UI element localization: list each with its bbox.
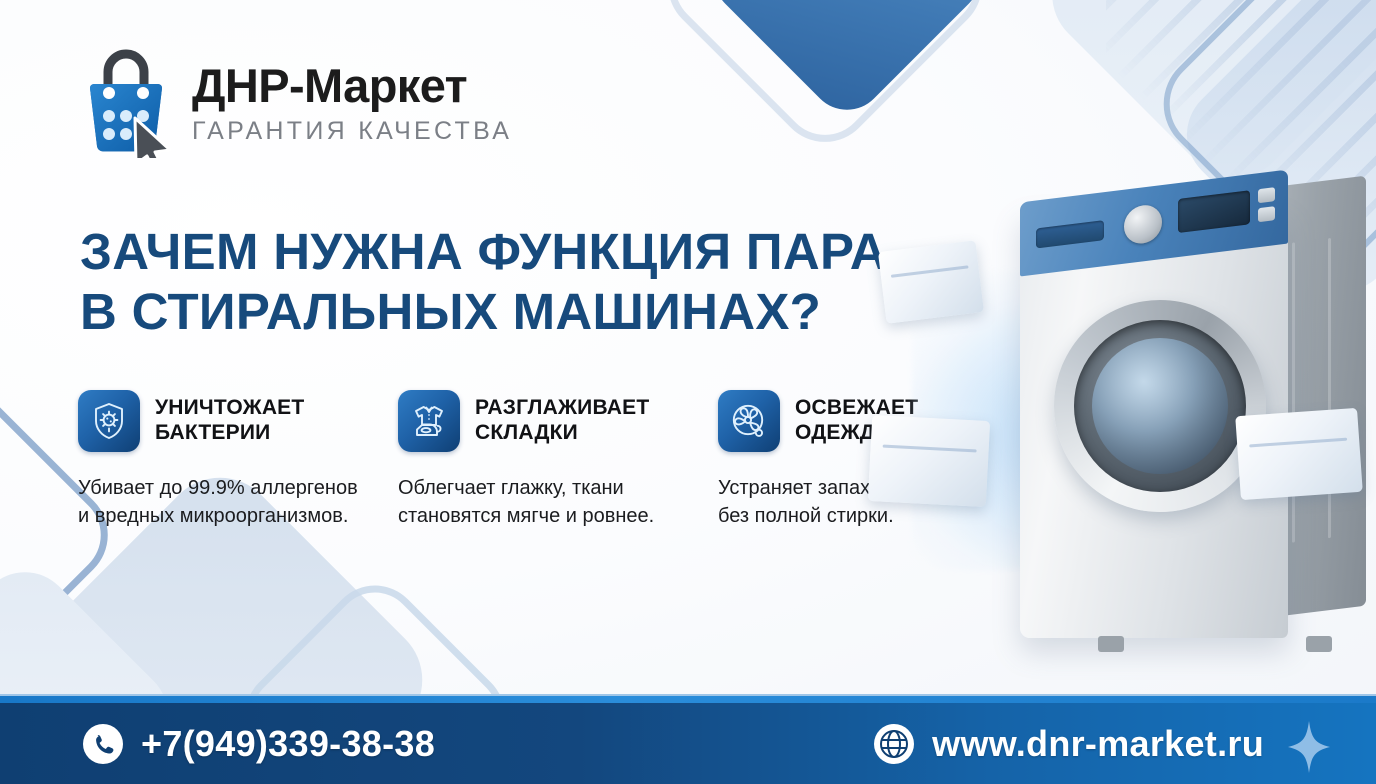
feature-title-line-1: РАЗГЛАЖИВАЕТ bbox=[475, 396, 649, 419]
website-url: www.dnr-market.ru bbox=[932, 723, 1264, 765]
door-glass bbox=[1092, 338, 1228, 474]
machine-foot bbox=[1306, 636, 1332, 652]
detergent-drawer bbox=[1036, 220, 1104, 248]
website-link[interactable]: www.dnr-market.ru bbox=[873, 723, 1264, 765]
machine-door bbox=[1054, 300, 1266, 512]
shopping-bag-cursor-icon bbox=[78, 46, 174, 158]
feature-description: Убивает до 99.9% аллергенов и вредных ми… bbox=[78, 474, 370, 531]
folded-shirt bbox=[878, 240, 984, 323]
fan-icon bbox=[718, 390, 780, 452]
headline-line-2: В СТИРАЛЬНЫХ МАШИНАХ? bbox=[80, 282, 887, 342]
washing-machine-image bbox=[962, 150, 1376, 690]
machine-buttons bbox=[1258, 187, 1275, 222]
feature-title: РАЗГЛАЖИВАЕТ СКЛАДКИ bbox=[475, 396, 649, 446]
sparkle-icon bbox=[1288, 721, 1330, 773]
brand-tagline: ГАРАНТИЯ КАЧЕСТВА bbox=[192, 117, 512, 146]
deco-diamond-blue-top bbox=[699, 0, 996, 125]
feature-item-wrinkles: РАЗГЛАЖИВАЕТ СКЛАДКИ Облегчает глажку, т… bbox=[398, 390, 718, 531]
feature-item-bacteria: УНИЧТОЖАЕТ БАКТЕРИИ Убивает до 99.9% алл… bbox=[78, 390, 398, 531]
page-title: ЗАЧЕМ НУЖНА ФУНКЦИЯ ПАРА В СТИРАЛЬНЫХ МА… bbox=[80, 222, 887, 341]
globe-icon bbox=[873, 723, 915, 765]
feature-title-line-2: БАКТЕРИИ bbox=[155, 421, 270, 444]
door-inner bbox=[1074, 320, 1246, 492]
feature-header: УНИЧТОЖАЕТ БАКТЕРИИ bbox=[78, 390, 398, 452]
phone-number: +7(949)339-38-38 bbox=[141, 723, 435, 765]
feature-title-line-2: СКЛАДКИ bbox=[475, 421, 578, 444]
feature-title: УНИЧТОЖАЕТ БАКТЕРИИ bbox=[155, 396, 304, 446]
brand-logo: ДНР-Маркет ГАРАНТИЯ КАЧЕСТВА bbox=[78, 46, 512, 158]
feature-description: Облегчает глажку, ткани становятся мягче… bbox=[398, 474, 690, 531]
footer-bar: +7(949)339-38-38 www.dnr-market.ru bbox=[0, 703, 1376, 784]
footer-accent-strip bbox=[0, 694, 1376, 703]
program-knob bbox=[1124, 203, 1162, 246]
shield-virus-icon bbox=[78, 390, 140, 452]
machine-foot bbox=[1098, 636, 1124, 652]
folded-shirt bbox=[868, 415, 990, 507]
feature-header: РАЗГЛАЖИВАЕТ СКЛАДКИ bbox=[398, 390, 718, 452]
brand-title: ДНР-Маркет bbox=[192, 62, 512, 110]
contact-footer: +7(949)339-38-38 www.dnr-market.ru bbox=[0, 694, 1376, 784]
deco-diamond-outline-top bbox=[648, 0, 1002, 162]
promo-banner: ДНР-Маркет ГАРАНТИЯ КАЧЕСТВА ЗАЧЕМ НУЖНА… bbox=[0, 0, 1376, 784]
shirt-iron-icon bbox=[398, 390, 460, 452]
headline-line-1: ЗАЧЕМ НУЖНА ФУНКЦИЯ ПАРА bbox=[80, 223, 887, 280]
feature-title-line-1: УНИЧТОЖАЕТ bbox=[155, 396, 304, 419]
phone-link[interactable]: +7(949)339-38-38 bbox=[82, 723, 435, 765]
machine-display bbox=[1178, 190, 1250, 233]
phone-icon bbox=[82, 723, 124, 765]
folded-shirt bbox=[1235, 408, 1363, 500]
